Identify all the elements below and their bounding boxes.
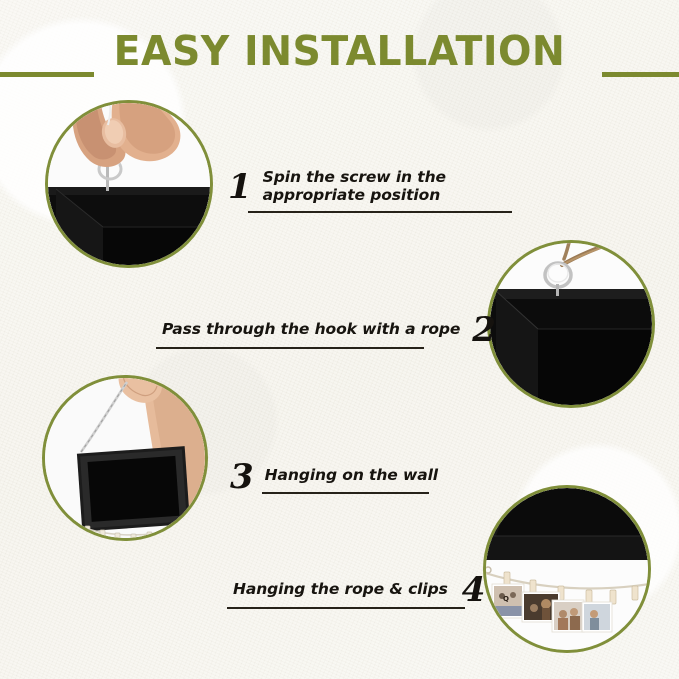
step-3-text: Hanging on the wall [265, 466, 438, 484]
photos-on-rope-with-clips-illustration: Q [486, 488, 648, 650]
svg-text:Q: Q [503, 595, 509, 603]
step-1: 1 Spin the screw in the appropriate posi… [228, 168, 525, 204]
hanging-frame-on-wall-illustration [45, 378, 205, 538]
step-4-photo: Q [483, 485, 651, 653]
screw-into-frame-illustration [48, 103, 210, 265]
step-2-photo [487, 240, 655, 408]
step-1-number: 1 [228, 170, 252, 204]
step-1-photo [45, 100, 213, 268]
step-1-underline [248, 211, 512, 213]
easy-installation-infographic: EASY INSTALLATION [0, 0, 679, 679]
title-rule-right [602, 72, 679, 77]
step-3-photo [42, 375, 208, 541]
step-4-photo-inner: Q [486, 488, 648, 650]
step-4: Hanging the rope & clips 4 [233, 573, 485, 607]
step-3-underline [262, 492, 429, 494]
step-3: 3 Hanging on the wall [230, 459, 438, 494]
step-3-photo-inner [45, 378, 205, 538]
step-1-text: Spin the screw in the appropriate positi… [263, 168, 525, 204]
step-4-number: 4 [462, 573, 486, 607]
step-2-photo-inner [490, 243, 652, 405]
step-1-photo-inner [48, 103, 210, 265]
step-2-number: 2 [472, 313, 496, 347]
step-2-text: Pass through the hook with a rope [162, 320, 460, 338]
step-2-underline [156, 347, 424, 349]
rope-through-hook-illustration [490, 243, 652, 405]
step-4-text: Hanging the rope & clips [233, 580, 448, 598]
page-title: EASY INSTALLATION [14, 22, 666, 80]
step-4-underline [227, 607, 465, 609]
header: EASY INSTALLATION [0, 22, 679, 84]
step-2: Pass through the hook with a rope 2 [162, 313, 496, 347]
step-3-number: 3 [230, 460, 254, 494]
